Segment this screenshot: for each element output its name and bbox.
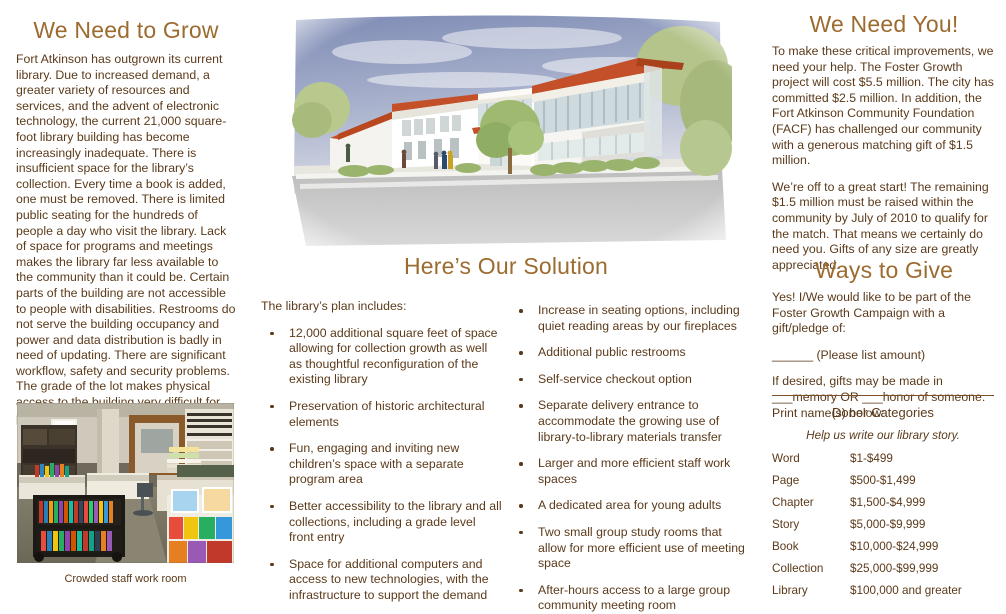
left-column: We Need to Grow Fort Atkinson has outgro… [0, 0, 252, 607]
bullet-dot-icon [270, 447, 274, 451]
table-row: Page $500-$1,499 [772, 474, 994, 496]
table-row: Word $1-$499 [772, 452, 994, 474]
donor-level-range: $5,000-$9,999 [850, 518, 994, 540]
ways-to-give-heading: Ways to Give [766, 258, 1002, 283]
amount-entry-line[interactable]: ______ (Please list amount) [772, 348, 1000, 364]
need-you-paragraph-1: To make these critical improvements, we … [772, 44, 998, 169]
bullet-list-2: Increase in seating options, including q… [510, 303, 752, 614]
bullet-dot-icon [270, 563, 274, 567]
bullet-dot-icon [270, 332, 274, 336]
crowded-staff-work-room-photo [17, 403, 234, 563]
list-item-text: Preservation of historic architectural e… [289, 399, 484, 429]
donor-categories-subtitle: Help us write our library story. [772, 428, 994, 443]
donor-level-name: Library [772, 584, 850, 606]
donor-level-name: Word [772, 452, 850, 474]
donor-level-range: $1-$499 [850, 452, 994, 474]
list-item-text: Larger and more efficient staff work spa… [538, 456, 730, 486]
bullet-dot-icon [270, 405, 274, 409]
list-item-text: Increase in seating options, including q… [538, 303, 740, 333]
donor-levels-table: Word $1-$499 Page $500-$1,499 Chapter $1… [772, 452, 994, 606]
we-need-you-body: To make these critical improvements, we … [772, 44, 998, 273]
donor-level-name: Chapter [772, 496, 850, 518]
table-row: Library $100,000 and greater [772, 584, 994, 606]
list-item-text: Better accessibility to the library and … [289, 499, 502, 544]
list-item: Additional public restrooms [510, 345, 752, 361]
list-item-text: Self-service checkout option [538, 372, 692, 386]
bullet-dot-icon [519, 378, 523, 382]
list-item: Increase in seating options, including q… [510, 303, 752, 334]
bullet-dot-icon [519, 589, 523, 593]
list-item-text: Separate delivery entrance to accommodat… [538, 398, 722, 443]
table-row: Collection $25,000-$99,999 [772, 562, 994, 584]
bullet-list-1: 12,000 additional square feet of space a… [261, 326, 503, 604]
donor-level-range: $100,000 and greater [850, 584, 994, 606]
donor-categories-title: Donor Categories [772, 405, 994, 421]
center-column: Here’s Our Solution The library’s plan i… [252, 0, 760, 607]
list-item: Self-service checkout option [510, 372, 752, 388]
table-row: Chapter $1,500-$4,999 [772, 496, 994, 518]
donor-level-name: Page [772, 474, 850, 496]
donor-level-name: Story [772, 518, 850, 540]
photo-caption: Crowded staff work room [17, 572, 234, 586]
list-item: Better accessibility to the library and … [261, 499, 503, 546]
staff-photo-figure: Crowded staff work room [17, 403, 234, 586]
library-building-architectural-rendering [282, 8, 732, 256]
donor-level-name: Book [772, 540, 850, 562]
bullet-dot-icon [519, 462, 523, 466]
solution-bullets-column-2: Increase in seating options, including q… [510, 303, 752, 614]
bullet-dot-icon [270, 505, 274, 509]
list-item-text: A dedicated area for young adults [538, 498, 721, 512]
we-need-to-grow-body: Fort Atkinson has outgrown its current l… [16, 52, 238, 426]
list-item: Two small group study rooms that allow f… [510, 525, 752, 572]
list-item-text: Two small group study rooms that allow f… [538, 525, 745, 570]
list-item-text: Space for additional computers and acces… [289, 557, 489, 602]
pledge-line: Yes! I/We would like to be part of the F… [772, 290, 1000, 337]
list-item: 12,000 additional square feet of space a… [261, 326, 503, 388]
bullet-dot-icon [519, 351, 523, 355]
list-item-text: Fun, engaging and inviting new children’… [289, 441, 464, 486]
list-item-text: 12,000 additional square feet of space a… [289, 326, 498, 387]
donor-level-range: $25,000-$99,999 [850, 562, 994, 584]
donor-level-range: $500-$1,499 [850, 474, 994, 496]
list-item: Fun, engaging and inviting new children’… [261, 441, 503, 488]
list-item: Preservation of historic architectural e… [261, 399, 503, 430]
donor-categories-block: Donor Categories Help us write our libra… [772, 395, 994, 606]
list-item: Space for additional computers and acces… [261, 557, 503, 604]
list-item: Separate delivery entrance to accommodat… [510, 398, 752, 445]
list-item-text: After-hours access to a large group comm… [538, 583, 730, 613]
we-need-to-grow-heading: We Need to Grow [10, 18, 242, 43]
bullet-dot-icon [519, 309, 523, 313]
bullet-dot-icon [519, 404, 523, 408]
donor-level-range: $10,000-$24,999 [850, 540, 994, 562]
name-entry-rule[interactable] [772, 395, 994, 396]
bullet-dot-icon [519, 531, 523, 535]
table-row: Story $5,000-$9,999 [772, 518, 994, 540]
list-item: After-hours access to a large group comm… [510, 583, 752, 614]
donor-level-range: $1,500-$4,999 [850, 496, 994, 518]
solution-bullets-column-1: The library’s plan includes: 12,000 addi… [261, 299, 503, 604]
donor-level-name: Collection [772, 562, 850, 584]
list-item-text: Additional public restrooms [538, 345, 686, 359]
list-item: A dedicated area for young adults [510, 498, 752, 514]
bullet-dot-icon [519, 504, 523, 508]
plan-intro-line: The library’s plan includes: [261, 299, 503, 315]
table-row: Book $10,000-$24,999 [772, 540, 994, 562]
list-item: Larger and more efficient staff work spa… [510, 456, 752, 487]
heres-our-solution-heading: Here’s Our Solution [252, 254, 760, 279]
right-column: We Need You! To make these critical impr… [760, 0, 1006, 607]
we-need-you-heading: We Need You! [766, 12, 1002, 37]
